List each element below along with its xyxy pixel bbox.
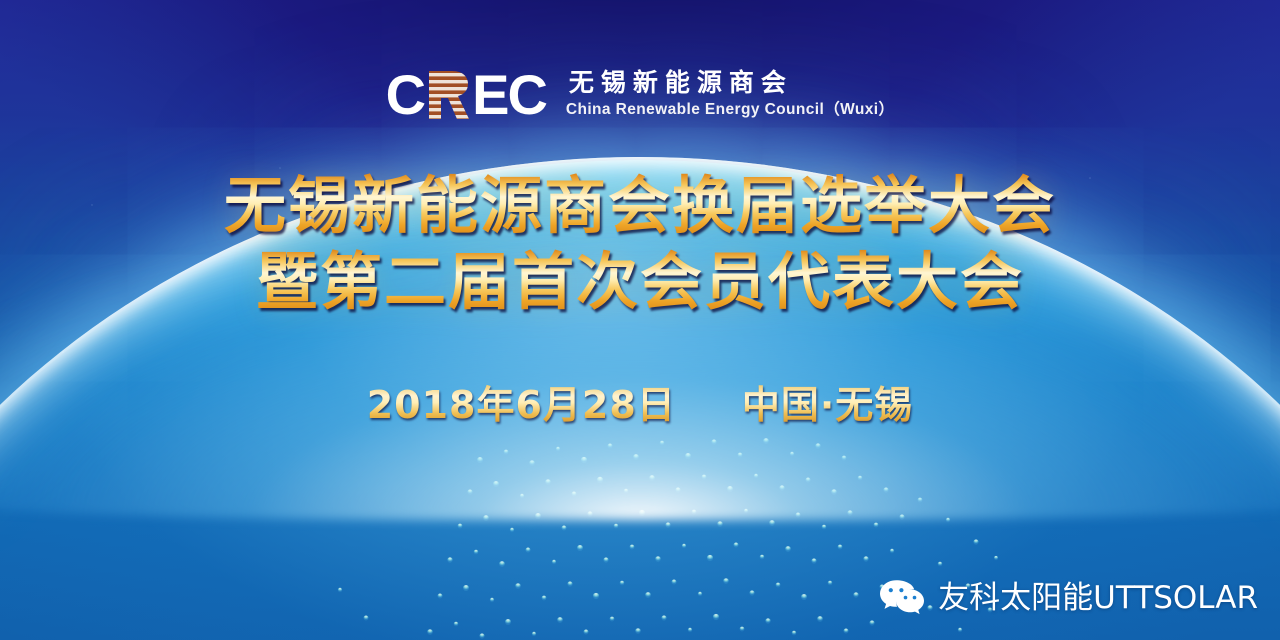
crec-name-block: 无锡新能源商会 China Renewable Energy Council（W…	[566, 66, 894, 120]
event-title-line-2: 暨第二届首次会员代表大会	[0, 244, 1280, 320]
event-date: 2018年6月28日	[367, 374, 676, 429]
event-title-line-1: 无锡新能源商会换届选举大会	[0, 168, 1280, 244]
crec-wordmark: C	[386, 66, 546, 124]
event-location: 中国·无锡	[742, 374, 913, 429]
crec-letter-r-striped-icon	[425, 69, 471, 121]
event-title: 无锡新能源商会换届选举大会 暨第二届首次会员代表大会	[0, 168, 1280, 320]
wechat-watermark: 友科太阳能UTTSOLAR	[879, 578, 1258, 618]
crec-letter-e: E	[472, 67, 507, 123]
wechat-icon	[879, 578, 925, 618]
event-poster: C	[0, 0, 1280, 640]
crec-english-name: China Renewable Energy Council（Wuxi）	[566, 100, 894, 120]
crec-logo: C	[0, 66, 1280, 124]
crec-letter-c1: C	[386, 67, 424, 123]
crec-letter-c2: C	[507, 67, 545, 123]
crec-chinese-name: 无锡新能源商会	[566, 68, 894, 98]
wechat-account-name: 友科太阳能UTTSOLAR	[938, 581, 1258, 615]
event-meta: 2018年6月28日 中国·无锡	[0, 374, 1280, 429]
